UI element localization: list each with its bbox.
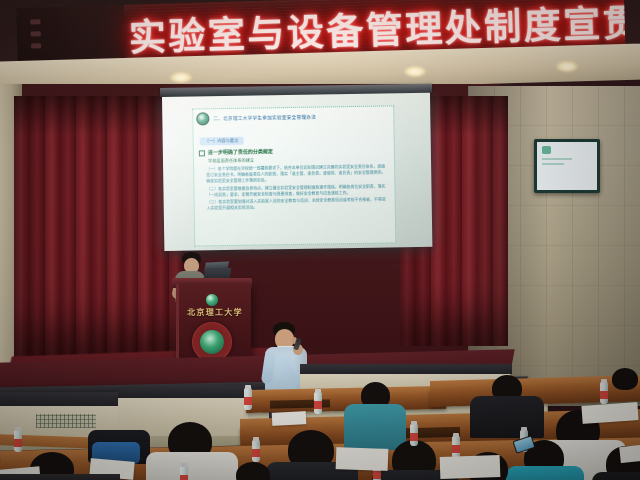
handout-7 [619,445,640,463]
downlight-1 [170,72,192,83]
water-bottle-9 [14,430,22,452]
floor-strip [0,474,120,480]
podium-seal-inner [200,330,224,354]
water-bottle-3 [452,436,460,458]
audience-body-8 [592,472,640,480]
slide-title: 二、北京理工大学学生参加实验室安全管理办法 [213,114,316,122]
bullet-square-icon [199,150,205,156]
audience-body-3 [146,452,238,480]
monitor-logo-icon [542,146,551,154]
lower-wall-dark-left [0,392,124,406]
presentation-slide: 二、北京理工大学学生参加实验室安全管理办法 （一）内容与要点 进一步明确了责任的… [192,105,396,246]
university-emblem-icon [196,112,209,125]
curtain-top-shadow [14,96,186,136]
slide-paragraph-2: （二）各实验室要根据自身特点，建立健全实验室安全管理制度和操作规程，明确各岗位安… [206,183,385,198]
stage-curtain-left [14,96,186,358]
slide-title-row: 二、北京理工大学学生参加实验室安全管理办法 [193,106,393,127]
water-bottle-2 [410,424,418,446]
water-bottle-5 [600,382,608,404]
audience-body-2 [470,396,544,438]
auditorium-photo: 实验室与设备管理处制度宣贯会 二、北京理工大学学生参加实验室安全管理办法 （一）… [0,0,640,480]
audience-body-1 [344,404,406,450]
handout-1 [272,411,307,426]
handout-4 [440,455,501,479]
water-bottle-8 [180,466,188,480]
water-bottle-6 [314,392,322,414]
slide-bullet-1-text: 进一步明确了责任的分类规定 [208,148,273,156]
downlight-2 [404,66,426,77]
slide-section-tag: （一）内容与要点 [200,137,244,146]
podium-university-name: 北京理工大学 [185,307,245,318]
wall-monitor [534,139,600,193]
projection-screen: 二、北京理工大学学生参加实验室安全管理办法 （一）内容与要点 进一步明确了责任的… [162,93,432,251]
water-bottle-1 [244,388,252,410]
slide-paragraph-3: （三）各实验室要加强对进入实验室人员的安全教育与培训，未经安全教育培训或考核不合… [207,197,386,212]
downlight-3 [556,61,578,72]
lower-wall-dark-mid [118,386,250,398]
handout-3 [336,447,389,471]
water-bottle-7 [252,440,260,462]
audience-head-11 [612,368,638,390]
vent-grille-lower [36,414,96,428]
podium-emblem-icon [206,294,218,306]
audience-body-7 [506,466,584,480]
back-wall-dark-band [300,364,512,374]
slide-paragraph-1: （一）各个学院要在学校统一部署和要求下，结合本单位实际情况建立完善的实验室安全责… [206,164,385,185]
